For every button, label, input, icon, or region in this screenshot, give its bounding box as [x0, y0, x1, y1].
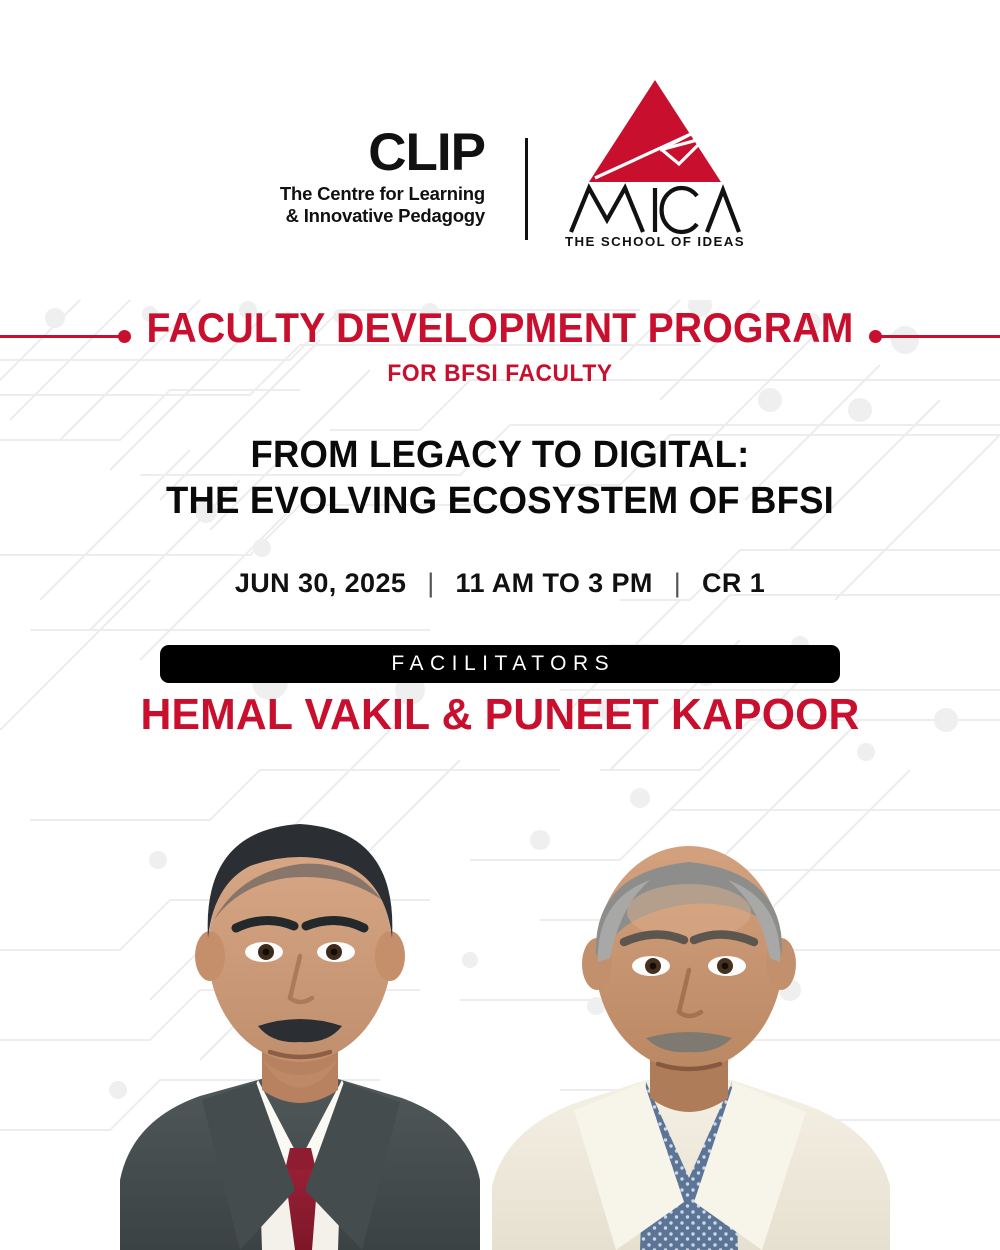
logo-band: CLIP The Centre for Learning & Innovativ… — [0, 70, 1000, 260]
event-date: JUN 30, 2025 — [235, 568, 406, 598]
facilitator-portraits — [0, 730, 1000, 1250]
event-details: JUN 30, 2025 | 11 AM TO 3 PM | CR 1 — [0, 568, 1000, 599]
clip-logo: CLIP The Centre for Learning & Innovativ… — [280, 128, 485, 228]
logo-divider — [525, 138, 528, 240]
detail-separator-2: | — [661, 568, 694, 598]
program-title: FACULTY DEVELOPMENT PROGRAM — [35, 302, 965, 354]
portrait-hemal-vakil — [90, 760, 510, 1250]
mica-logo: THE SCHOOL OF IDEAS — [560, 78, 750, 249]
event-time: 11 AM TO 3 PM — [456, 568, 653, 598]
session-title-line2: THE EVOLVING ECOSYSTEM OF BFSI — [20, 478, 980, 524]
facilitator-names-text: HEMAL VAKIL & PUNEET KAPOOR — [15, 690, 985, 740]
mica-wordmark-icon — [567, 182, 743, 236]
portrait-puneet-kapoor — [470, 780, 940, 1250]
header-rule-right — [880, 335, 1000, 338]
event-poster: CLIP The Centre for Learning & Innovativ… — [0, 0, 1000, 1250]
event-venue: CR 1 — [702, 568, 765, 598]
mica-tagline: THE SCHOOL OF IDEAS — [560, 234, 750, 249]
clip-acronym: CLIP — [280, 128, 485, 179]
facilitators-banner-label: FACILITATORS — [385, 652, 615, 676]
mica-triangle-icon — [587, 78, 723, 184]
program-subtitle: FOR BFSI FACULTY — [25, 360, 975, 388]
session-title-line1: FROM LEGACY TO DIGITAL: — [20, 432, 980, 478]
detail-separator-1: | — [414, 568, 447, 598]
facilitators-banner: FACILITATORS — [160, 645, 840, 683]
program-header: FACULTY DEVELOPMENT PROGRAM FOR BFSI FAC… — [0, 302, 1000, 388]
clip-expansion-line2: & Innovative Pedagogy — [280, 205, 485, 228]
clip-expansion-line1: The Centre for Learning — [280, 183, 485, 206]
session-title: FROM LEGACY TO DIGITAL: THE EVOLVING ECO… — [0, 432, 1000, 524]
facilitator-names: HEMAL VAKIL & PUNEET KAPOOR — [0, 690, 1000, 740]
